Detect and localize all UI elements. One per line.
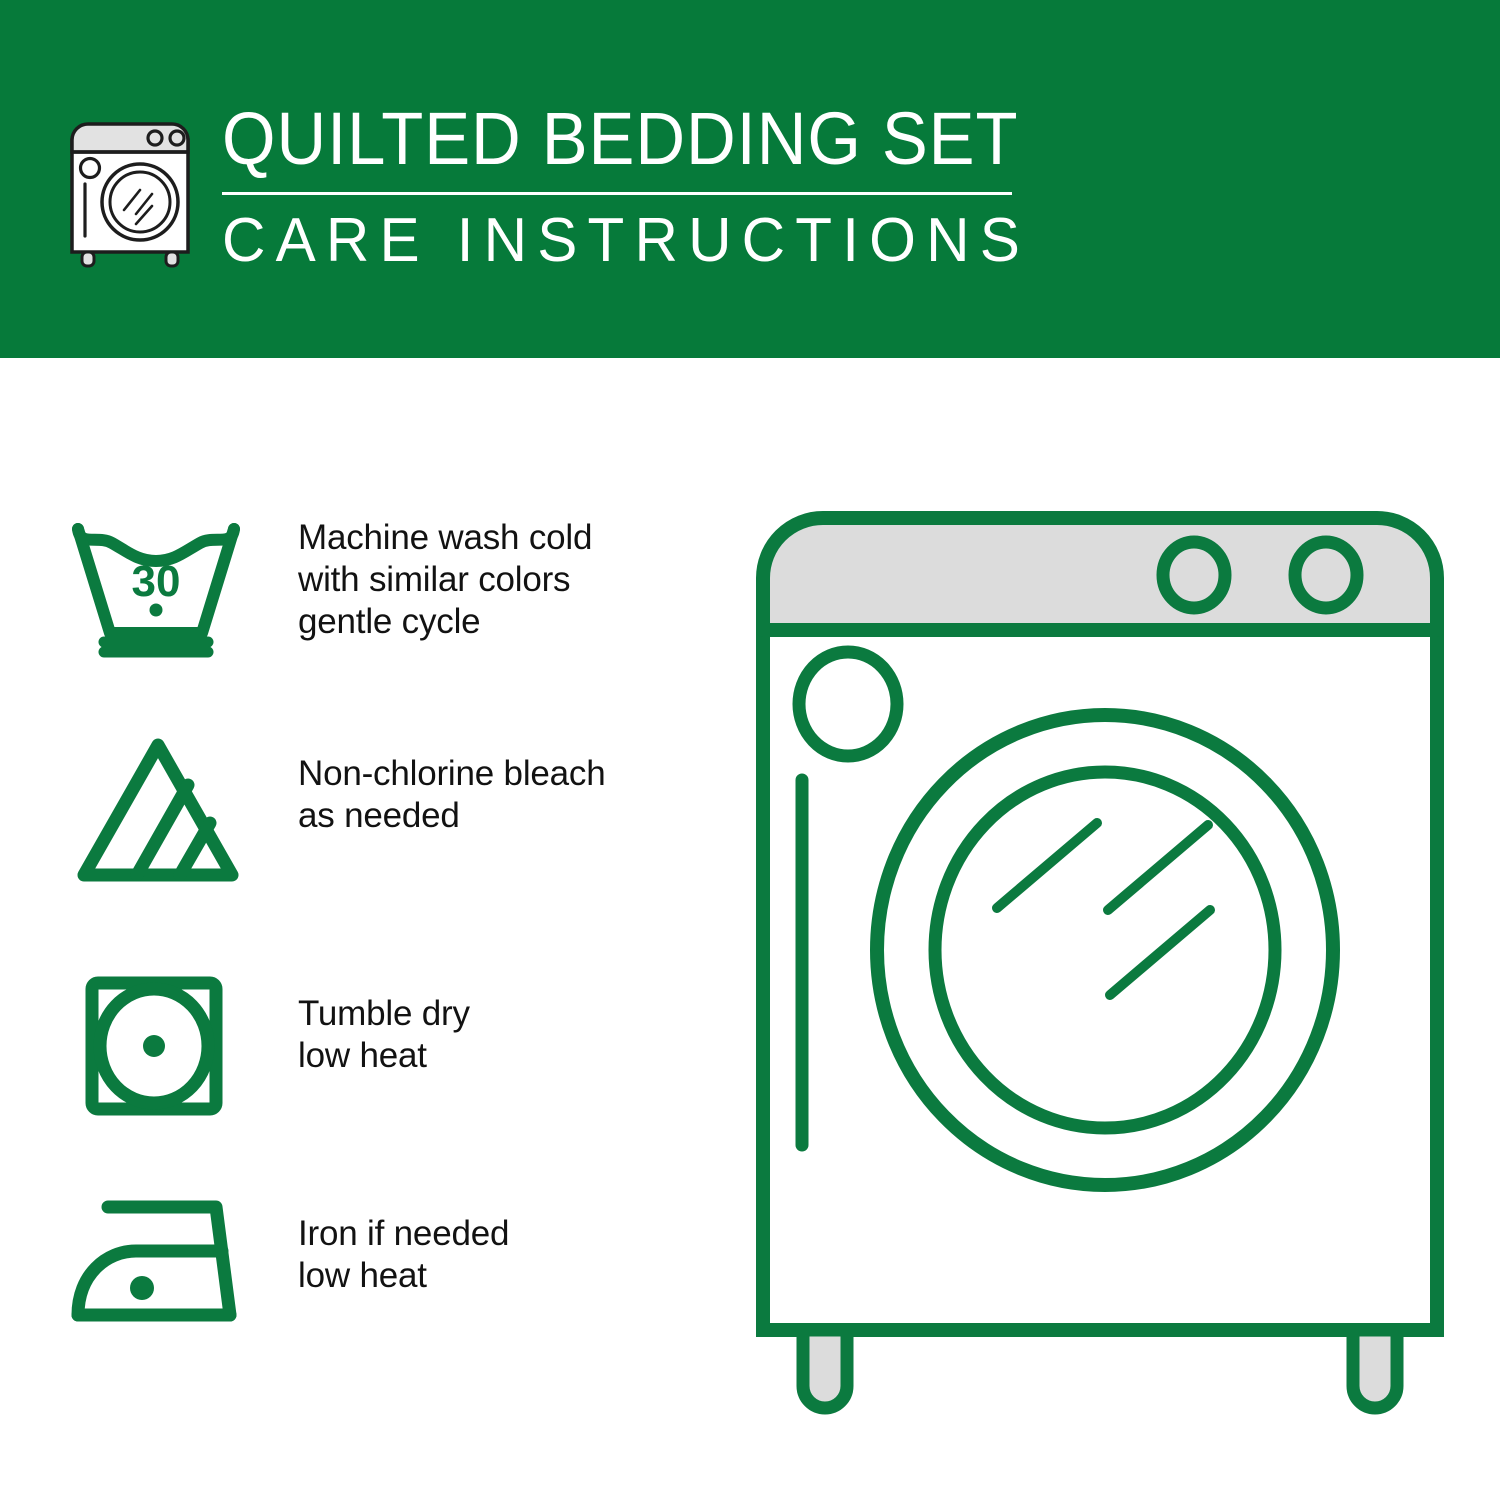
leg-left [803,1330,847,1408]
washing-machine-icon [60,110,200,270]
care-row-iron: Iron if needed low heat [70,1193,710,1333]
care-label-line: Non-chlorine bleach [298,753,606,795]
page-subtitle: CARE INSTRUCTIONS [222,208,1056,274]
care-label-line: low heat [298,1035,470,1077]
front-load-washing-machine-illustration [745,500,1455,1430]
title-divider [222,192,1012,195]
door-inner-ring [935,772,1275,1128]
care-label-tumble-dry: Tumble dry low heat [250,973,470,1077]
iron-low-heat-icon [70,1193,250,1333]
tumble-dry-low-heat-icon [70,973,250,1123]
care-label-line: as needed [298,795,606,837]
care-label-line: Machine wash cold [298,517,592,559]
knob-left [1163,542,1225,608]
care-label-machine-wash: Machine wash cold with similar colors ge… [250,513,592,643]
header-banner: QUILTED BEDDING SET CARE INSTRUCTIONS [0,0,1500,358]
care-label-line: low heat [298,1255,509,1297]
wash-temperature-value: 30 [132,557,181,606]
indicator-light [799,652,897,756]
wash-tub-30-gentle-icon: 30 [70,513,250,663]
care-label-line: gentle cycle [298,601,592,643]
care-row-tumble-dry: Tumble dry low heat [70,973,710,1123]
care-instructions-list: 30 Machine wash cold with similar colors… [0,358,730,1500]
triangle-non-chlorine-bleach-icon [70,733,250,888]
care-row-bleach: Non-chlorine bleach as needed [70,733,710,888]
care-label-iron: Iron if needed low heat [250,1193,509,1297]
care-label-bleach: Non-chlorine bleach as needed [250,733,606,837]
page-title: QUILTED BEDDING SET [222,100,1022,178]
care-row-machine-wash: 30 Machine wash cold with similar colors… [70,513,710,663]
knob-right [1295,542,1357,608]
care-label-line: Iron if needed [298,1213,509,1255]
care-label-line: with similar colors [298,559,592,601]
leg-right [1353,1330,1397,1408]
header-content: QUILTED BEDDING SET CARE INSTRUCTIONS [60,100,1060,272]
header-title-group: QUILTED BEDDING SET CARE INSTRUCTIONS [222,100,1082,274]
care-label-line: Tumble dry [298,993,470,1035]
